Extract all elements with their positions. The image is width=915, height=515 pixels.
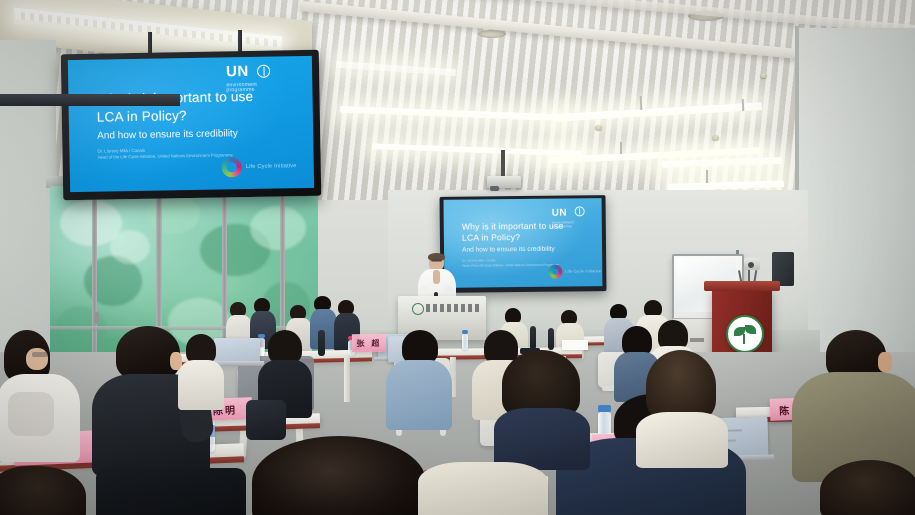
lectern-label [426,304,480,312]
un-logo-text: UN [226,63,249,80]
slide-title-line-1: Why is it important to use [462,220,596,232]
ceiling-vent [478,30,506,38]
presenter-neck [433,270,440,284]
life-cycle-swirl-icon [222,157,242,177]
luminaire-rod [706,170,708,183]
attendee-foreground [798,330,915,480]
slide-title-line-2: LCA in Policy? [97,107,297,127]
un-logo-text: UN [552,208,568,219]
microphone [318,330,325,356]
lectern-logo-icon [412,303,424,315]
slide-subtitle: And how to ensure its credibility [462,245,596,253]
projector-lens-icon [490,186,499,191]
camera-lens-icon [748,262,754,268]
microphone [530,326,536,350]
water-bottle [462,334,468,350]
life-cycle-initiative-label: Life Cycle Initiative [246,163,297,170]
papers [562,340,588,350]
attendee-foreground [0,466,86,515]
attendee-foreground [820,460,915,515]
sprinkler-head-icon [760,73,767,78]
podium-university-crest [726,315,764,353]
life-cycle-initiative-logo: Life Cycle Initiative [548,264,601,279]
life-cycle-swirl-icon [548,265,562,279]
life-cycle-initiative-logo: Life Cycle Initiative [222,156,297,177]
projector-mount-arm [501,150,505,178]
presenter-glasses-icon [431,259,442,262]
attendee-foreground [418,462,548,515]
attendee-foreground [494,350,590,460]
projection-screen-slide: UN environment programme Why is it impor… [444,198,603,288]
door-handle[interactable] [95,312,99,324]
attendee [0,330,82,460]
attendee-foreground [636,350,728,460]
attendee-foreground [252,436,426,515]
slide-subtitle: And how to ensure its credibility [97,127,297,141]
wall-mounted-tv: UN environment programme Why is it impor… [61,50,322,200]
bottle-cap [462,330,468,334]
sprinkler-head-icon [595,125,602,130]
table-leg [344,358,350,402]
projection-screen-base [0,94,180,106]
name-card: 张 超 [352,334,386,353]
sprinkler-head-icon [712,135,719,140]
projection-display: UN environment programme Why is it impor… [440,195,607,293]
name-card-text: 张 超 [356,337,381,348]
attendee [386,330,452,426]
slide-title-line-2: LCA in Policy? [462,232,596,244]
un-globe-icon [257,65,270,78]
left-wall-column [0,40,56,340]
right-wall [797,28,915,358]
backpack [246,400,286,440]
conference-room-photo: UN environment programme Why is it impor… [0,0,915,515]
podium-top [704,281,780,291]
tv-screen-slide: UN environment programme Why is it impor… [68,56,314,192]
luminaire-rod [620,142,622,154]
microphone [548,328,554,350]
un-globe-icon [575,206,585,216]
attendee-foreground [96,468,246,515]
attendee [178,334,224,406]
life-cycle-initiative-label: Life Cycle Initiative [565,269,601,273]
bottle-cap [598,405,611,412]
